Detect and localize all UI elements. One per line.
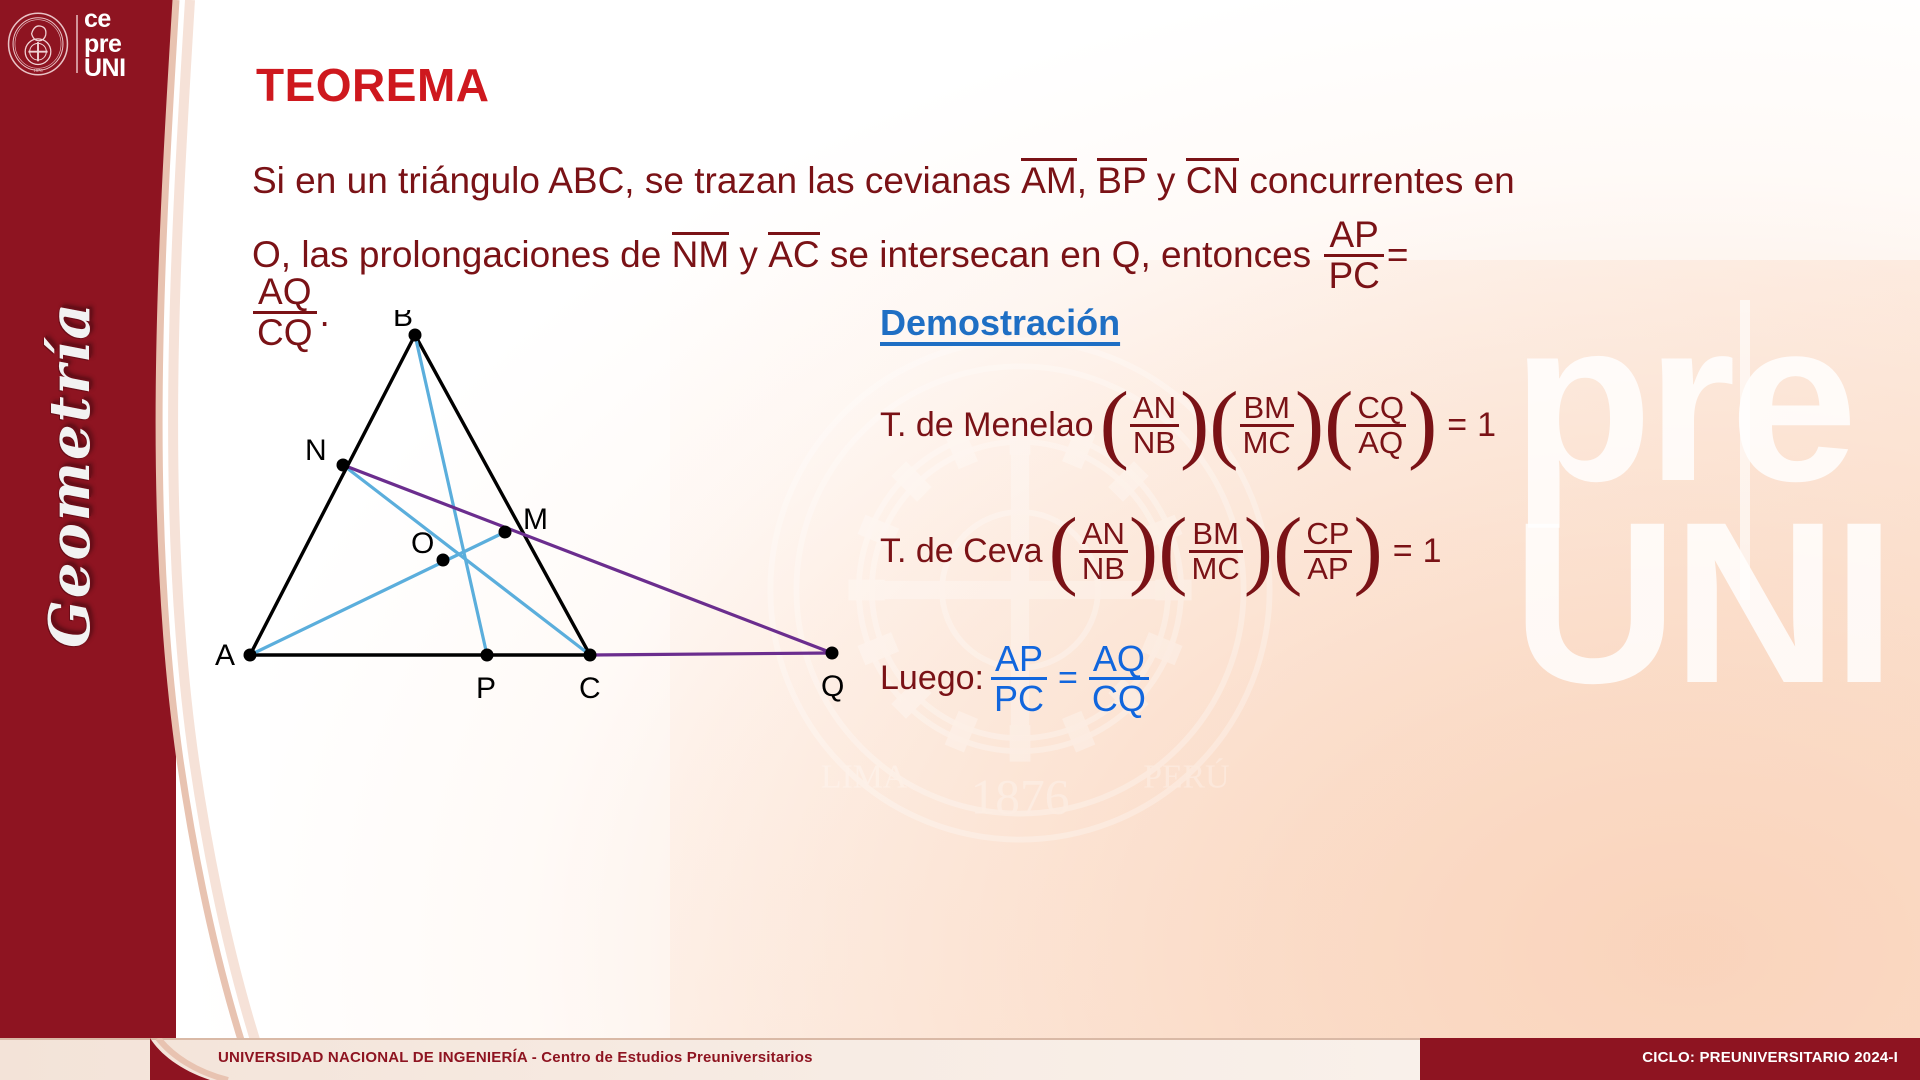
ceva-equals: =: [1393, 532, 1413, 571]
diagram-labels: A B C N M O P Q: [215, 310, 844, 705]
overline-segment-nm: NM: [672, 232, 730, 273]
statement-seg-1: Si en un triángulo ABC, se trazan las ce…: [252, 160, 1021, 201]
side-bc: [415, 335, 590, 655]
brand-line-ce: ce: [84, 7, 126, 32]
cevian-am: [250, 532, 505, 655]
ceva-paren-close-1: ): [1129, 518, 1158, 581]
fraction-aq-cq-numerator: AQ: [254, 273, 315, 311]
menelao-fraction-3: CQ AQ: [1354, 392, 1407, 459]
svg-text:1876: 1876: [34, 68, 44, 73]
label-b: B: [393, 310, 413, 333]
ceva-paren-close-3: ): [1353, 518, 1382, 581]
menelao-f1-num: AN: [1130, 392, 1179, 424]
paren-close-1: ): [1180, 392, 1209, 455]
ceva-label: T. de Ceva: [880, 532, 1043, 571]
brand-logo: 1876 ce pre UNI: [6, 4, 176, 84]
paren-close-3: ): [1408, 392, 1437, 455]
footer-bar: UNIVERSIDAD NACIONAL DE INGENIERÍA - Cen…: [0, 1038, 1920, 1080]
ceva-result: 1: [1423, 532, 1442, 571]
fraction-ap-pc-denominator: PC: [1324, 254, 1383, 295]
theorem-statement: Si en un triángulo ABC, se trazan las ce…: [252, 144, 1532, 296]
slide-root: pre UNI: [0, 0, 1920, 1080]
ceva-paren-open-2: (: [1158, 518, 1187, 581]
luego-f1-num: AP: [992, 640, 1046, 677]
ceva-paren-open-1: (: [1049, 518, 1078, 581]
luego-f2-num: AQ: [1090, 640, 1148, 677]
point-a: [244, 649, 257, 662]
equation-ceva: T. de Ceva ( AN NB ) ( BM MC ) ( CP AP )…: [880, 518, 1442, 585]
menelao-f1-den: NB: [1130, 424, 1179, 459]
equation-luego: Luego: AP PC = AQ CQ: [880, 640, 1150, 718]
point-q: [826, 647, 839, 660]
label-o: O: [411, 527, 434, 560]
ceva-paren-close-2: ): [1244, 518, 1273, 581]
label-c: C: [579, 672, 601, 705]
label-p: P: [476, 672, 496, 705]
sidebar-subject-label: Geometría: [37, 318, 103, 648]
cevian-cn: [343, 465, 590, 655]
paren-open-3: (: [1324, 392, 1353, 455]
paren-open-1: (: [1100, 392, 1129, 455]
ceva-paren-open-3: (: [1273, 518, 1302, 581]
label-q: Q: [821, 670, 844, 703]
ceva-f1-den: NB: [1079, 550, 1128, 585]
menelao-f3-den: AQ: [1355, 424, 1406, 459]
label-m: M: [523, 503, 548, 536]
sidebar-subject-text: Geometría: [37, 301, 103, 648]
luego-equals: =: [1058, 659, 1078, 698]
statement-seg-5: y: [729, 234, 768, 275]
paren-close-2: ): [1295, 392, 1324, 455]
paren-open-2: (: [1209, 392, 1238, 455]
overline-segment-ac: AC: [768, 232, 819, 273]
footer-right-text: CICLO: PREUNIVERSITARIO 2024-I: [1642, 1049, 1898, 1066]
menelao-f3-num: CQ: [1354, 392, 1407, 424]
ceva-fraction-2: BM MC: [1189, 518, 1243, 585]
ceva-fraction-3: CP AP: [1303, 518, 1352, 585]
menelao-equals: =: [1447, 406, 1467, 445]
ceva-f2-num: BM: [1189, 518, 1242, 550]
ceva-f1-num: AN: [1079, 518, 1128, 550]
ceva-f3-den: AP: [1304, 550, 1351, 585]
point-c: [584, 649, 597, 662]
transversal-group: [343, 465, 832, 655]
overline-segment-cn: CN: [1186, 158, 1239, 199]
luego-fraction-2: AQ CQ: [1089, 640, 1149, 718]
overline-segment-am: AM: [1021, 158, 1077, 199]
ceva-f2-den: MC: [1189, 550, 1243, 585]
footer-left-text: UNIVERSIDAD NACIONAL DE INGENIERÍA - Cen…: [218, 1049, 813, 1066]
line-cq: [590, 653, 832, 655]
statement-seg-6: se intersecan en Q, entonces: [820, 234, 1322, 275]
brand-line-uni: UNI: [84, 56, 126, 81]
luego-fraction-1: AP PC: [991, 640, 1047, 718]
logo-divider: [76, 15, 78, 73]
brand-text: ce pre UNI: [84, 7, 126, 81]
point-o: [437, 554, 450, 567]
ceva-fraction-1: AN NB: [1079, 518, 1128, 585]
watermark-bar: [1740, 300, 1750, 600]
luego-f1-den: PC: [991, 677, 1047, 717]
menelao-result: 1: [1477, 406, 1496, 445]
geometry-diagram: A B C N M O P Q: [195, 310, 875, 740]
side-ab: [250, 335, 415, 655]
statement-seg-3: y: [1147, 160, 1186, 201]
statement-equals: =: [1387, 234, 1409, 275]
menelao-label: T. de Menelao: [880, 406, 1094, 445]
menelao-f2-den: MC: [1240, 424, 1294, 459]
overline-segment-bp: BP: [1097, 158, 1146, 199]
equation-menelao: T. de Menelao ( AN NB ) ( BM MC ) ( CQ A…: [880, 392, 1496, 459]
luego-label: Luego:: [880, 659, 984, 698]
luego-f2-den: CQ: [1089, 677, 1149, 717]
point-m: [499, 526, 512, 539]
page-title: TEOREMA: [256, 58, 490, 112]
ceva-f3-num: CP: [1303, 518, 1352, 550]
menelao-f2-num: BM: [1240, 392, 1293, 424]
label-a: A: [215, 639, 235, 672]
menelao-fraction-1: AN NB: [1130, 392, 1179, 459]
uni-seal-icon: 1876: [6, 12, 70, 76]
fraction-ap-pc-numerator: AP: [1325, 216, 1382, 254]
point-p: [481, 649, 494, 662]
point-n: [337, 459, 350, 472]
demonstration-heading: Demostración: [880, 302, 1120, 344]
statement-seg-2: ,: [1077, 160, 1098, 201]
brand-line-pre: pre: [84, 32, 126, 57]
label-n: N: [305, 434, 327, 467]
menelao-fraction-2: BM MC: [1240, 392, 1294, 459]
fraction-ap-pc: APPC: [1324, 216, 1383, 294]
cevian-bp: [415, 335, 487, 655]
